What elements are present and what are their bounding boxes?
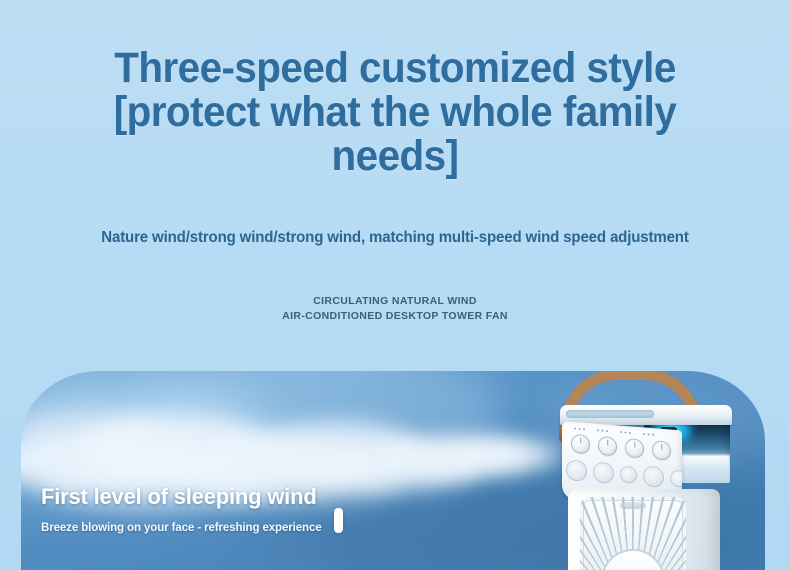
tick-group: [596, 429, 609, 433]
unit-body: [568, 489, 720, 570]
subtitle: Nature wind/strong wind/strong wind, mat…: [12, 228, 778, 248]
spray-hole: [670, 469, 682, 487]
spray-hole: [643, 465, 664, 488]
page-title: Three-speed customized style [protect wh…: [24, 46, 767, 178]
spray-hole: [566, 459, 587, 482]
tick-group: [619, 430, 632, 434]
tick-group: [642, 432, 655, 436]
spray-hole: [620, 466, 637, 484]
caption-line-1: CIRCULATING NATURAL WIND: [0, 294, 790, 309]
overlay-title: First level of sleeping wind: [41, 484, 322, 510]
mist-puff: [21, 407, 161, 451]
haze-blob: [141, 371, 501, 481]
tick-group: [573, 427, 586, 431]
headline-line-1: Three-speed customized style: [24, 46, 767, 90]
wind-level-indicator: [334, 508, 343, 533]
mist-puff: [391, 437, 531, 475]
caption-line-2: AIR-CONDITIONED DESKTOP TOWER FAN: [0, 309, 790, 324]
product-caption: CIRCULATING NATURAL WIND AIR-CONDITIONED…: [0, 294, 790, 323]
air-cooler-product-image: [530, 371, 765, 570]
headline-line-3: needs]: [24, 134, 767, 178]
spray-hole: [593, 461, 614, 484]
mist-puff: [251, 421, 421, 483]
headline-line-2: [protect what the whole family: [24, 90, 767, 134]
control-knob: [652, 440, 671, 460]
product-photo-panel: First level of sleeping wind Breeze blow…: [21, 371, 765, 570]
spray-hole-row: [566, 459, 682, 490]
knob-row: [571, 434, 671, 461]
mist-puff: [21, 429, 201, 491]
mist-puff: [81, 413, 271, 485]
photo-overlay-text: First level of sleeping wind Breeze blow…: [41, 484, 322, 536]
mist-puff: [321, 443, 481, 489]
overlay-subtitle: Breeze blowing on your face - refreshing…: [41, 521, 322, 536]
control-knob: [598, 436, 617, 456]
control-knob: [625, 438, 644, 458]
control-knob: [571, 434, 590, 454]
promo-page: Three-speed customized style [protect wh…: [0, 0, 790, 570]
haze-blob: [21, 379, 281, 499]
top-vent-rim: [566, 410, 654, 418]
fan-grille: [580, 497, 686, 570]
